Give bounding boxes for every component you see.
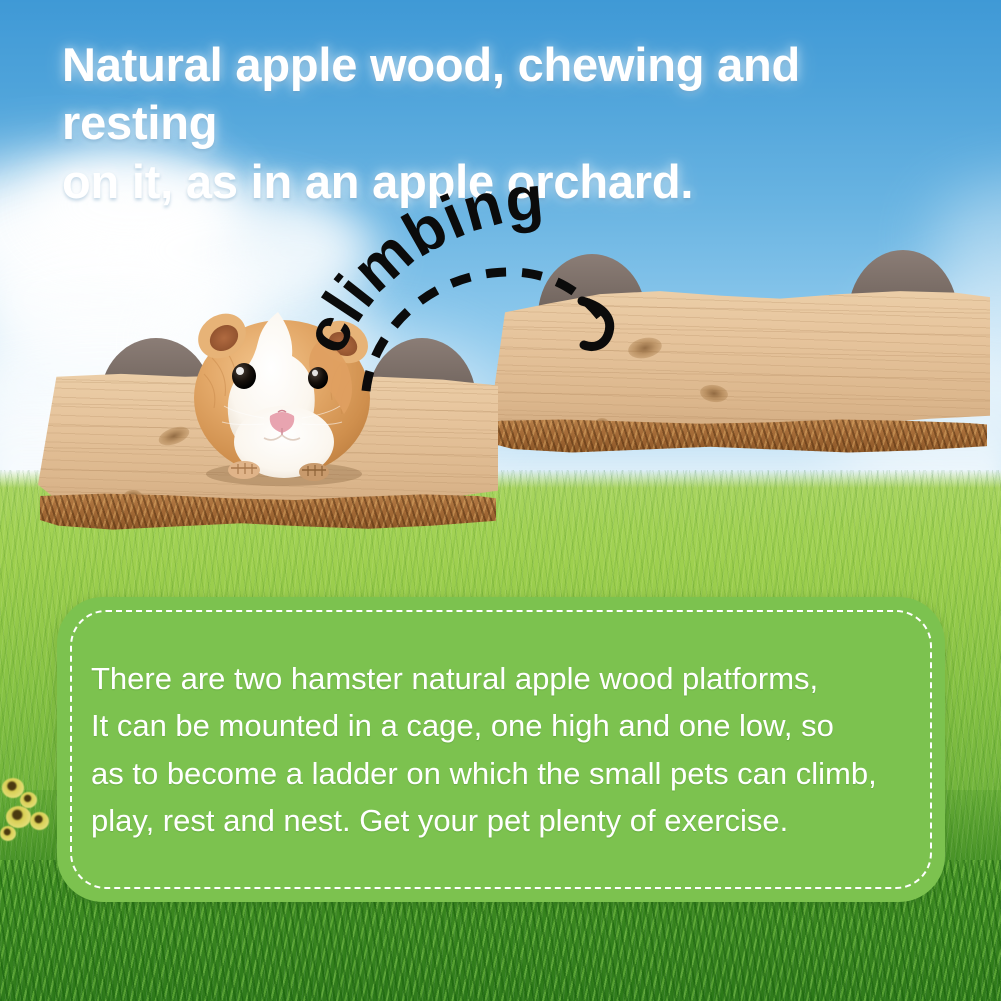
page-title: Natural apple wood, chewing and resting … xyxy=(62,36,962,211)
description-card: There are two hamster natural apple wood… xyxy=(57,597,945,902)
eye-left xyxy=(232,363,256,389)
product-marketing-image: Natural apple wood, chewing and resting … xyxy=(0,0,1001,1001)
paw-left xyxy=(228,461,260,479)
guinea-pig-illustration xyxy=(178,292,388,492)
wood-platform-right xyxy=(490,250,990,425)
paw-right xyxy=(299,463,329,481)
description-text: There are two hamster natural apple wood… xyxy=(91,655,915,845)
eye-right xyxy=(308,367,328,389)
plank-surface-right xyxy=(490,285,990,437)
